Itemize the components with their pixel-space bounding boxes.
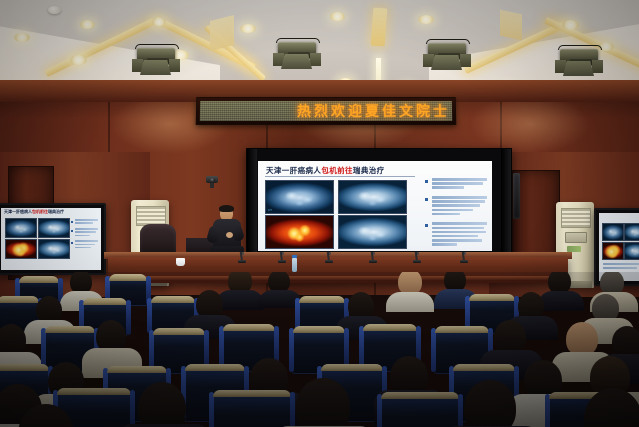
slide-title-highlight: 包机前往 bbox=[321, 166, 353, 175]
mon-ct-upper-right bbox=[38, 218, 70, 238]
scan-internal-structures bbox=[6, 219, 36, 237]
audience-seating-area bbox=[0, 272, 639, 427]
audience-head bbox=[464, 380, 516, 427]
slide-title-main: 天津一肝癌病人 bbox=[266, 166, 321, 175]
seat[interactable] bbox=[212, 390, 292, 427]
audience-head bbox=[138, 382, 186, 427]
mon-title-highlight: 包机前往 bbox=[32, 209, 48, 214]
seat-headrest bbox=[453, 364, 515, 371]
left-monitor-screen: 天津一肝癌病人包机前往瑞典治疗 bbox=[1, 208, 101, 270]
seat-headrest bbox=[45, 326, 95, 333]
spotlight-shutter bbox=[563, 61, 594, 76]
stage-spotlight bbox=[274, 35, 320, 71]
bullet-text-line bbox=[75, 219, 98, 221]
led-welcome-banner: 热烈欢迎夏佳文院士 bbox=[196, 97, 457, 125]
cove-light-strip bbox=[371, 8, 388, 47]
bullet-text-line bbox=[432, 227, 484, 230]
seat-headrest bbox=[153, 328, 205, 335]
ceiling-light-slot bbox=[210, 15, 234, 51]
bullet-text-line bbox=[75, 240, 98, 242]
stage-spotlight bbox=[556, 42, 602, 78]
seat-headrest bbox=[223, 324, 275, 331]
bullet-text-line bbox=[603, 263, 639, 265]
seat-headrest bbox=[57, 388, 131, 395]
seat-headrest bbox=[83, 298, 127, 305]
mon-pet-lower-left bbox=[5, 239, 37, 259]
desk-microphone bbox=[325, 252, 333, 263]
bullet-text-line bbox=[432, 200, 485, 203]
bullet-block-3 bbox=[425, 222, 487, 246]
scan-internal-structures bbox=[625, 243, 639, 259]
bullet-block-2 bbox=[425, 196, 487, 215]
seat-headrest bbox=[0, 364, 49, 371]
bullet-text-line bbox=[75, 244, 95, 246]
bullet-marker-icon bbox=[71, 221, 73, 223]
slide-title-tail: 瑞典治疗 bbox=[353, 166, 385, 175]
mon-bullet-block bbox=[71, 219, 98, 224]
slide-bullet-list bbox=[425, 178, 487, 251]
rmon-ct-3 bbox=[624, 242, 639, 260]
bullet-text-line bbox=[432, 222, 487, 225]
spotlight-shutter bbox=[140, 60, 171, 75]
ceiling-downlight bbox=[562, 20, 579, 30]
desk-microphone bbox=[369, 252, 377, 263]
seat-headrest bbox=[435, 326, 489, 333]
bullet-text-line bbox=[75, 222, 93, 224]
stage-spotlight bbox=[133, 41, 179, 77]
seat-headrest bbox=[469, 294, 515, 301]
seat-headrest bbox=[381, 392, 459, 399]
seat-headrest bbox=[19, 276, 59, 283]
scan-internal-structures bbox=[603, 224, 623, 240]
bullet-text-line bbox=[432, 196, 487, 199]
ac-vent-grill bbox=[136, 206, 166, 226]
seat-headrest bbox=[185, 364, 245, 371]
presentation-slide: 天津一肝癌病人包机前往瑞典治疗 CT bbox=[258, 161, 492, 251]
bullet-text-line bbox=[432, 209, 473, 212]
auditorium-photo: 热烈欢迎夏佳文院士 天津一肝癌病人包机前往瑞典治疗 CT bbox=[0, 0, 639, 427]
slide-title: 天津一肝癌病人包机前往瑞典治疗 bbox=[266, 165, 385, 176]
bullet-text-line bbox=[603, 267, 637, 269]
rmon-pet-1 bbox=[602, 242, 624, 260]
bullet-text-line bbox=[432, 213, 460, 216]
mic-base bbox=[325, 260, 333, 263]
scan-internal-structures bbox=[625, 224, 639, 240]
mon-bullet-block bbox=[71, 240, 98, 248]
led-banner-text: 热烈欢迎夏佳文院士 bbox=[297, 101, 452, 121]
audience-shoulders bbox=[538, 291, 584, 311]
ac-vent-grill bbox=[561, 208, 591, 228]
seat-headrest bbox=[109, 274, 147, 281]
mic-base bbox=[238, 260, 246, 263]
seat-headrest bbox=[213, 390, 291, 397]
bullet-text-line bbox=[432, 235, 478, 238]
seat-headrest bbox=[321, 364, 383, 371]
audience-head bbox=[494, 320, 526, 354]
mon-ct-upper-left bbox=[5, 218, 37, 238]
bullet-block-1 bbox=[425, 178, 487, 189]
spotlight-shutter bbox=[281, 54, 312, 69]
left-monitor-slide-title: 天津一肝癌病人包机前往瑞典治疗 bbox=[4, 209, 64, 215]
ceiling-downlight bbox=[14, 33, 30, 42]
ct-scan-upper-left: CT bbox=[265, 180, 334, 214]
slide-title-rule bbox=[265, 176, 415, 177]
ceiling-downlight bbox=[152, 18, 166, 26]
presenter-hair bbox=[219, 205, 234, 212]
left-monitor: 天津一肝癌病人包机前往瑞典治疗 bbox=[0, 203, 106, 275]
smoke-detector-icon bbox=[48, 6, 61, 14]
wall-camera-icon bbox=[205, 176, 219, 188]
bullet-marker-icon bbox=[71, 230, 73, 232]
mon-title-tail: 瑞典治疗 bbox=[48, 209, 64, 214]
seat-headrest bbox=[151, 296, 195, 303]
bullet-text-line bbox=[75, 235, 90, 237]
spotlight-shutter bbox=[431, 55, 462, 70]
ct-scan-lower-right bbox=[338, 215, 407, 249]
bullet-text-line bbox=[432, 186, 464, 189]
bullet-text-line bbox=[75, 247, 91, 249]
desk-microphone bbox=[460, 252, 468, 263]
screen-bezel-right bbox=[501, 149, 511, 261]
seat[interactable] bbox=[380, 392, 460, 427]
mon-ct-lower-right bbox=[38, 239, 70, 259]
water-bottle bbox=[292, 258, 297, 272]
bullet-text-line bbox=[75, 231, 96, 233]
ceiling-downlight bbox=[240, 24, 256, 33]
scan-internal-structures bbox=[339, 216, 406, 248]
rmon-ct-1 bbox=[602, 223, 624, 241]
bullet-text-line bbox=[432, 204, 480, 207]
bullet-marker-icon bbox=[425, 198, 428, 201]
desk-microphone bbox=[278, 252, 286, 263]
mon-bullet-list bbox=[71, 219, 98, 255]
desk-microphone bbox=[413, 252, 421, 263]
scan-internal-structures bbox=[39, 240, 69, 258]
scan-internal-structures bbox=[339, 181, 406, 213]
spotlight-barndoor-right bbox=[592, 60, 603, 73]
ac-control-panel[interactable] bbox=[565, 232, 587, 243]
scan-internal-structures bbox=[266, 181, 333, 213]
ceiling-downlight bbox=[330, 12, 345, 21]
bullet-text-line bbox=[432, 243, 457, 246]
seat-headrest bbox=[107, 366, 167, 373]
mon-title-main: 天津一肝癌病人 bbox=[4, 209, 32, 214]
led-screen: 热烈欢迎夏佳文院士 bbox=[200, 101, 452, 121]
speaker-strip-right bbox=[513, 173, 520, 219]
bullet-marker-icon bbox=[71, 242, 73, 244]
ceiling-downlight bbox=[70, 55, 87, 65]
bullet-text-line bbox=[432, 182, 483, 185]
seat-headrest bbox=[0, 296, 39, 303]
right-monitor-screen bbox=[599, 213, 639, 281]
scan-internal-structures bbox=[39, 219, 69, 237]
mic-base bbox=[369, 260, 377, 263]
mic-base bbox=[460, 260, 468, 263]
seat-headrest bbox=[299, 296, 345, 303]
spotlight-barndoor-right bbox=[310, 53, 321, 66]
bullet-marker-icon bbox=[425, 224, 428, 227]
mic-base bbox=[278, 260, 286, 263]
camera-lens-icon bbox=[210, 178, 215, 182]
mon-bullet-block bbox=[71, 228, 98, 236]
seat-headrest bbox=[363, 324, 417, 331]
camera-mount-arm bbox=[210, 183, 214, 188]
audience-head bbox=[566, 322, 598, 356]
seat-headrest bbox=[293, 326, 345, 333]
spotlight-barndoor-right bbox=[460, 54, 471, 67]
projection-screen: 天津一肝癌病人包机前往瑞典治疗 CT bbox=[246, 148, 512, 262]
ct-scan-upper-right bbox=[338, 180, 407, 214]
spotlight-barndoor-right bbox=[169, 59, 180, 72]
coffee-mug bbox=[176, 258, 185, 266]
camera-body bbox=[206, 176, 218, 183]
bullet-text-line bbox=[432, 178, 487, 181]
audience-shoulders bbox=[386, 292, 434, 312]
ceiling-downlight bbox=[418, 15, 434, 24]
presenter-hand-with-mic bbox=[226, 232, 233, 238]
bullet-text-line bbox=[75, 228, 98, 230]
stage-spotlight bbox=[424, 36, 470, 72]
ceiling-downlight bbox=[80, 20, 95, 29]
scan-label: CT bbox=[268, 208, 272, 212]
bullet-text-line bbox=[432, 231, 486, 234]
desk-microphone bbox=[238, 252, 246, 263]
audience-shoulders bbox=[216, 290, 264, 310]
rmon-ct-2 bbox=[624, 223, 639, 241]
bullet-marker-icon bbox=[425, 180, 428, 183]
mic-base bbox=[413, 260, 421, 263]
bullet-text-line bbox=[432, 239, 482, 242]
pet-scan-lower-left bbox=[265, 215, 334, 249]
ceiling-light-slot bbox=[500, 10, 522, 41]
wall-light-glow bbox=[470, 94, 590, 154]
audience-head bbox=[296, 378, 350, 427]
